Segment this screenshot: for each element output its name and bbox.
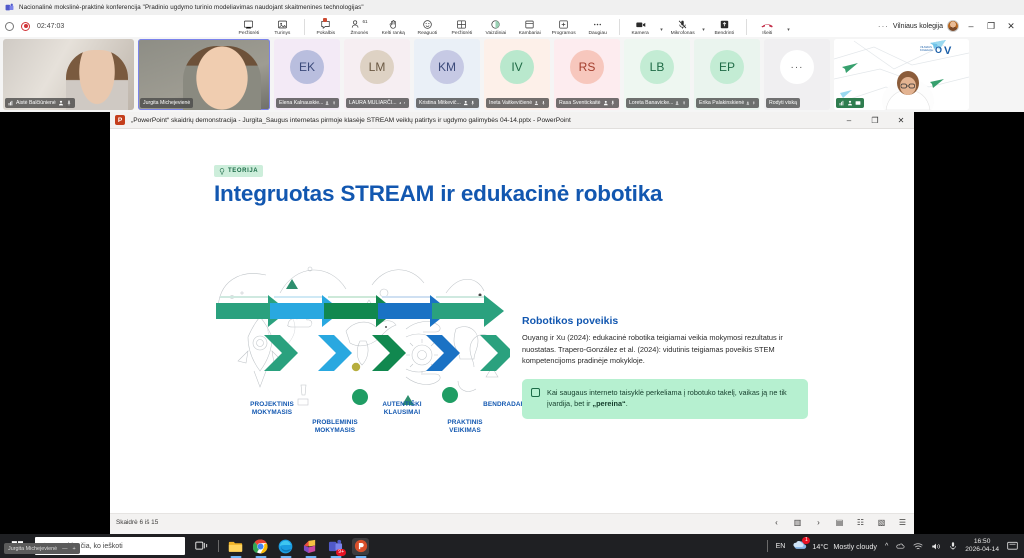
participant-name: Erika Palakinskienė bbox=[699, 100, 744, 106]
participant-name: Loreta Banavicke... bbox=[629, 100, 673, 106]
recording-indicator-icon[interactable] bbox=[21, 22, 30, 31]
avatar: RS bbox=[570, 50, 604, 84]
audio-level-icon bbox=[839, 100, 845, 106]
powerpoint-icon: P bbox=[115, 115, 125, 125]
pp-minimize-button[interactable]: – bbox=[836, 112, 862, 129]
avatar: KM bbox=[430, 50, 464, 84]
diagram-label: PRAKTINIS VEIKIMAS bbox=[425, 419, 505, 436]
language-indicator[interactable]: EN bbox=[776, 543, 786, 550]
volume-icon[interactable] bbox=[931, 542, 941, 551]
camera-button-label: Kamera bbox=[632, 30, 649, 36]
more-button[interactable]: Daugiau bbox=[581, 19, 615, 37]
running-indicator bbox=[330, 556, 341, 558]
react-button[interactable]: Reaguoti bbox=[411, 19, 445, 37]
pin-icon bbox=[541, 100, 546, 106]
share-button[interactable]: Bendrinti bbox=[708, 19, 742, 37]
floating-chip-name: Jurgita Michejevienė bbox=[8, 546, 57, 552]
chevron-up-icon[interactable]: ^ bbox=[885, 543, 888, 550]
camera-icon bbox=[635, 19, 647, 30]
microphone-chevron-down-icon[interactable]: ▾ bbox=[700, 27, 708, 37]
normal-view-button[interactable]: ▤ bbox=[834, 517, 845, 528]
powerpoint-title-bar: P „PowerPoint“ skaidrių demonstracija - … bbox=[110, 112, 914, 129]
overflow-circle: ··· bbox=[780, 50, 814, 84]
powerpoint-window: P „PowerPoint“ skaidrių demonstracija - … bbox=[110, 112, 914, 530]
apps-button[interactable]: Programos bbox=[547, 19, 581, 37]
participant-name-chip: LAURA MULIARČI... bbox=[346, 98, 409, 108]
teams-window-title: Nacionalinė mokslinė-praktinė konferenci… bbox=[19, 4, 364, 11]
callout-text-emphasis: „pereina“ bbox=[592, 399, 625, 408]
avatar: LM bbox=[360, 50, 394, 84]
leave-button[interactable]: Išeiti bbox=[751, 19, 785, 37]
microphone-button-label: Mikrofonas bbox=[670, 30, 694, 36]
network-icon[interactable] bbox=[913, 542, 923, 551]
participant-name-chip: Erika Palakinskienė bbox=[696, 98, 759, 108]
presenter-icon bbox=[847, 100, 853, 106]
slideshow-view-button[interactable]: ☰ bbox=[897, 517, 908, 528]
notification-icon[interactable] bbox=[1007, 541, 1018, 551]
people-count: 61 bbox=[362, 19, 367, 24]
people-button[interactable]: 61 Žmonės bbox=[343, 19, 377, 37]
hang-up-icon bbox=[761, 19, 774, 30]
participant-name-chip: Aistė Balčiūnienė bbox=[5, 98, 75, 108]
participant-tile-branded[interactable]: O V VILNIAUS KOLEGIJA bbox=[834, 39, 969, 110]
participant-name: Jurgita Michejevienė bbox=[143, 100, 190, 106]
pin-icon bbox=[470, 100, 475, 106]
weather-temperature: 14°C bbox=[812, 542, 828, 551]
diagram-label: AUTENTIŠKI KLAUSIMAI bbox=[362, 401, 442, 418]
next-slide-button[interactable]: › bbox=[813, 517, 824, 528]
timer-icon bbox=[5, 22, 14, 31]
callout-text-part2: . bbox=[626, 399, 628, 408]
weather-badge: 1 bbox=[802, 537, 810, 544]
page-title: Integruotas STREAM ir edukacinė robotika bbox=[214, 181, 662, 207]
participant-tile-avatar[interactable]: IV Ineta Vaitkevičienė bbox=[484, 39, 550, 110]
view-layout-button-label: Peržiūrėti bbox=[451, 30, 472, 36]
pin-icon bbox=[403, 100, 406, 106]
content-button-label: Turinys bbox=[274, 30, 290, 36]
organization-name: Vilniaus kolegija bbox=[893, 23, 943, 30]
callout-box: Kai saugaus interneto taisyklė perkeliam… bbox=[522, 379, 808, 419]
pin-icon bbox=[332, 100, 336, 106]
effects-button[interactable]: Vaizdiniai bbox=[479, 19, 513, 37]
weather-condition: Mostly cloudy bbox=[833, 542, 877, 551]
overflow-menu-icon[interactable]: ··· bbox=[878, 22, 889, 31]
microphone-button[interactable]: Mikrofonas bbox=[666, 19, 700, 37]
teams-minimize-button[interactable]: – bbox=[963, 21, 979, 31]
weather-widget[interactable]: 1 14°C Mostly cloudy bbox=[793, 539, 877, 553]
participant-name: Aistė Balčiūnienė bbox=[16, 100, 56, 106]
participant-name-chip: Rasa Sventickaitė bbox=[556, 98, 619, 108]
overflow-dots: ··· bbox=[791, 62, 804, 73]
participant-tile-avatar[interactable]: KM Kristina Mitkevič... bbox=[414, 39, 480, 110]
avatar: EK bbox=[290, 50, 324, 84]
svg-text:V: V bbox=[944, 45, 952, 57]
presenter-icon bbox=[399, 100, 402, 106]
camera-button[interactable]: Kamera bbox=[624, 19, 658, 37]
chat-unread-badge bbox=[323, 18, 327, 22]
participant-tile-avatar[interactable]: EP Erika Palakinskienė bbox=[694, 39, 760, 110]
rooms-icon bbox=[524, 19, 535, 30]
participant-name: Elena Kalnauskie... bbox=[279, 100, 323, 106]
pp-close-button[interactable]: ✕ bbox=[888, 112, 914, 129]
presenter-icon bbox=[603, 100, 609, 106]
react-button-label: Reaguoti bbox=[418, 30, 438, 36]
avatar-initials: LM bbox=[369, 60, 386, 74]
participant-name-chip: Jurgita Michejevienė bbox=[140, 98, 193, 108]
grid-view-icon bbox=[456, 19, 467, 30]
toolbar-divider-3 bbox=[746, 19, 747, 35]
avatar: IV bbox=[500, 50, 534, 84]
rooms-button[interactable]: Kambariai bbox=[513, 19, 547, 37]
slide-sorter-button[interactable]: ☷ bbox=[855, 517, 866, 528]
participant-tile-avatar[interactable]: LB Loreta Banavicke... bbox=[624, 39, 690, 110]
participant-name: LAURA MULIARČI... bbox=[349, 100, 397, 106]
teams-title-bar: Nacionalinė mokslinė-praktinė konferenci… bbox=[0, 0, 1024, 15]
screen: Nacionalinė mokslinė-praktinė konferenci… bbox=[0, 0, 1024, 558]
chat-button[interactable]: Pokalbis bbox=[309, 19, 343, 37]
slide-canvas[interactable]: TEORIJA Integruotas STREAM ir edukacinė … bbox=[110, 129, 914, 513]
raise-hand-button[interactable]: Kelti ranką bbox=[377, 19, 411, 37]
microphone-muted-icon bbox=[677, 19, 688, 30]
content-button[interactable]: Turinys bbox=[266, 19, 300, 37]
react-icon bbox=[422, 19, 433, 30]
chat-button-label: Pokalbis bbox=[316, 30, 335, 36]
teams-close-button[interactable]: ✕ bbox=[1003, 21, 1019, 32]
view-button[interactable]: Peržiūrėti bbox=[232, 19, 266, 37]
previous-slide-button[interactable]: ‹ bbox=[771, 517, 782, 528]
raise-hand-icon bbox=[388, 19, 399, 30]
view-icon bbox=[243, 19, 254, 30]
running-indicator bbox=[255, 556, 266, 558]
diagram-label: PROJEKTINIS MOKYMASIS bbox=[230, 401, 314, 418]
avatar-initials: LB bbox=[650, 60, 665, 74]
participant-tile-avatar[interactable]: RS Rasa Sventickaitė bbox=[554, 39, 620, 110]
running-indicator bbox=[280, 556, 291, 558]
note-icon bbox=[531, 388, 540, 397]
pin-icon bbox=[752, 100, 756, 106]
participant-name-chip: Ineta Vaitkevičienė bbox=[486, 98, 549, 108]
onedrive-icon[interactable] bbox=[896, 542, 905, 551]
view-layout-button[interactable]: Peržiūrėti bbox=[445, 19, 479, 37]
slide-counter: Skaidrė 6 iš 15 bbox=[116, 519, 158, 526]
status-badge-label: TEORIJA bbox=[228, 168, 258, 174]
tray-divider bbox=[767, 540, 768, 552]
diagram-label: PROBLEMINIS MOKYMASIS bbox=[290, 419, 380, 436]
presenter-icon bbox=[746, 100, 750, 106]
windows-taskbar: Įveskite čia, ko ieškoti bbox=[0, 534, 1024, 558]
callout-text-part1: Kai saugaus interneto taisyklė perkeliam… bbox=[547, 388, 787, 408]
presenter-icon bbox=[58, 100, 64, 106]
avatar-initials: EK bbox=[299, 60, 315, 74]
avatar[interactable] bbox=[947, 20, 959, 32]
more-icon bbox=[592, 19, 603, 30]
pp-restore-button[interactable]: ❐ bbox=[862, 112, 888, 129]
edge-icon[interactable] bbox=[277, 538, 294, 555]
callout-text: Kai saugaus interneto taisyklė perkeliam… bbox=[547, 387, 798, 410]
running-indicator bbox=[230, 556, 241, 558]
share-button-label: Bendrinti bbox=[715, 30, 734, 36]
presenter-icon bbox=[325, 100, 329, 106]
pin-icon bbox=[66, 100, 72, 106]
avatar-initials: RS bbox=[579, 60, 596, 74]
slide-thumbnail-button[interactable]: ▥ bbox=[792, 517, 803, 528]
raise-hand-button-label: Kelti ranką bbox=[382, 30, 405, 36]
taskbar-divider bbox=[218, 540, 219, 552]
teams-maximize-button[interactable]: ❐ bbox=[983, 21, 999, 32]
office-icon[interactable] bbox=[302, 538, 319, 555]
lightbulb-icon bbox=[219, 168, 225, 175]
task-view-icon[interactable] bbox=[193, 538, 210, 555]
toolbar-divider-2 bbox=[619, 19, 620, 35]
show-all-participants-tile[interactable]: ··· Rodyti viską bbox=[764, 39, 830, 110]
more-button-label: Daugiau bbox=[588, 30, 606, 36]
presenter-icon bbox=[534, 100, 539, 106]
content-icon bbox=[277, 19, 288, 30]
show-all-label: Rodyti viską bbox=[769, 100, 797, 106]
powerpoint-window-title: „PowerPoint“ skaidrių demonstracija - Ju… bbox=[131, 117, 571, 124]
powerpoint-icon[interactable] bbox=[352, 538, 369, 555]
presenter-icon bbox=[675, 100, 679, 106]
rooms-button-label: Kambariai bbox=[518, 30, 540, 36]
file-explorer-icon[interactable] bbox=[227, 538, 244, 555]
svg-text:O: O bbox=[935, 45, 942, 55]
floating-chip-minimize[interactable]: — bbox=[62, 546, 67, 552]
floating-self-view-chip[interactable]: Jurgita Michejevienė — + bbox=[4, 543, 80, 554]
camera-chevron-down-icon[interactable]: ▾ bbox=[658, 27, 666, 37]
apps-button-label: Programos bbox=[551, 30, 575, 36]
floating-chip-expand[interactable]: + bbox=[73, 546, 76, 552]
section-heading: Robotikos poveikis bbox=[522, 315, 618, 327]
section-body: Ouyang ir Xu (2024): edukacinė robotika … bbox=[522, 332, 798, 367]
avatar: LB bbox=[640, 50, 674, 84]
clock-date: 2026-04-14 bbox=[965, 546, 999, 554]
teams-icon bbox=[5, 3, 14, 12]
participant-name-chip bbox=[836, 98, 864, 108]
participant-video bbox=[66, 50, 128, 110]
view-button-label: Peržiūrėti bbox=[238, 30, 259, 36]
chat-icon bbox=[320, 19, 331, 30]
people-button-label: Žmonės bbox=[351, 30, 369, 36]
powerpoint-status-bar: Skaidrė 6 iš 15 ‹ ▥ › ▤ ☷ ▧ ☰ bbox=[110, 513, 914, 530]
participant-name: Kristina Mitkevič... bbox=[419, 100, 461, 106]
toolbar-divider bbox=[304, 19, 305, 35]
apps-icon bbox=[558, 19, 569, 30]
pin-icon bbox=[610, 100, 616, 106]
show-all-chip[interactable]: Rodyti viską bbox=[766, 98, 800, 108]
participant-tile-active-speaker[interactable]: Jurgita Michejevienė bbox=[138, 39, 270, 110]
effects-button-label: Vaizdiniai bbox=[485, 30, 506, 36]
desktop-background-right bbox=[914, 112, 1024, 534]
svg-text:KOLEGIJA: KOLEGIJA bbox=[920, 48, 933, 52]
participant-tile-avatar[interactable]: EK Elena Kalnauskie... bbox=[274, 39, 340, 110]
slide-stage: TEORIJA Integruotas STREAM ir edukacinė … bbox=[110, 129, 914, 513]
presenter-icon bbox=[463, 100, 468, 106]
audio-level-icon bbox=[8, 100, 14, 106]
participant-tile-avatar[interactable]: LM LAURA MULIARČI... bbox=[344, 39, 410, 110]
share-indicator-icon bbox=[855, 100, 861, 106]
avatar-initials: EP bbox=[719, 60, 735, 74]
pin-icon bbox=[682, 100, 686, 106]
teams-notification-badge: 9+ bbox=[336, 549, 346, 556]
avatar-initials: IV bbox=[511, 60, 522, 74]
desktop-background-left bbox=[0, 112, 110, 534]
recording-timer: 02:47:03 bbox=[37, 23, 64, 30]
leave-button-label: Išeiti bbox=[762, 30, 772, 36]
participant-name-chip: Kristina Mitkevič... bbox=[416, 98, 479, 108]
participant-name: Ineta Vaitkevičienė bbox=[489, 100, 532, 106]
share-screen-icon bbox=[719, 19, 730, 30]
clock[interactable]: 16:50 2026-04-14 bbox=[965, 538, 999, 555]
running-indicator bbox=[355, 556, 366, 558]
participant-tile-video[interactable]: Aistė Balčiūnienė bbox=[3, 39, 134, 110]
participant-video bbox=[183, 46, 261, 110]
participant-name: Rasa Sventickaitė bbox=[559, 100, 601, 106]
avatar: EP bbox=[710, 50, 744, 84]
teams-icon[interactable]: 9+ bbox=[327, 538, 344, 555]
clock-time: 16:50 bbox=[965, 538, 999, 546]
people-icon: 61 bbox=[351, 19, 367, 30]
chrome-icon[interactable] bbox=[252, 538, 269, 555]
participant-strip: Aistė Balčiūnienė Jurgita Michejevienė E… bbox=[0, 39, 1024, 112]
system-tray: EN 1 14°C Mostly cloudy ^ 16:50 2026- bbox=[767, 538, 1024, 555]
status-badge: TEORIJA bbox=[214, 165, 263, 177]
leave-chevron-down-icon[interactable]: ▾ bbox=[785, 27, 793, 37]
participant-name-chip: Elena Kalnauskie... bbox=[276, 98, 339, 108]
reading-view-button[interactable]: ▧ bbox=[876, 517, 887, 528]
microphone-icon[interactable] bbox=[949, 541, 957, 551]
running-indicator bbox=[305, 556, 316, 558]
avatar-initials: KM bbox=[438, 60, 456, 74]
participant-name-chip: Loreta Banavicke... bbox=[626, 98, 689, 108]
effects-icon bbox=[490, 19, 501, 30]
